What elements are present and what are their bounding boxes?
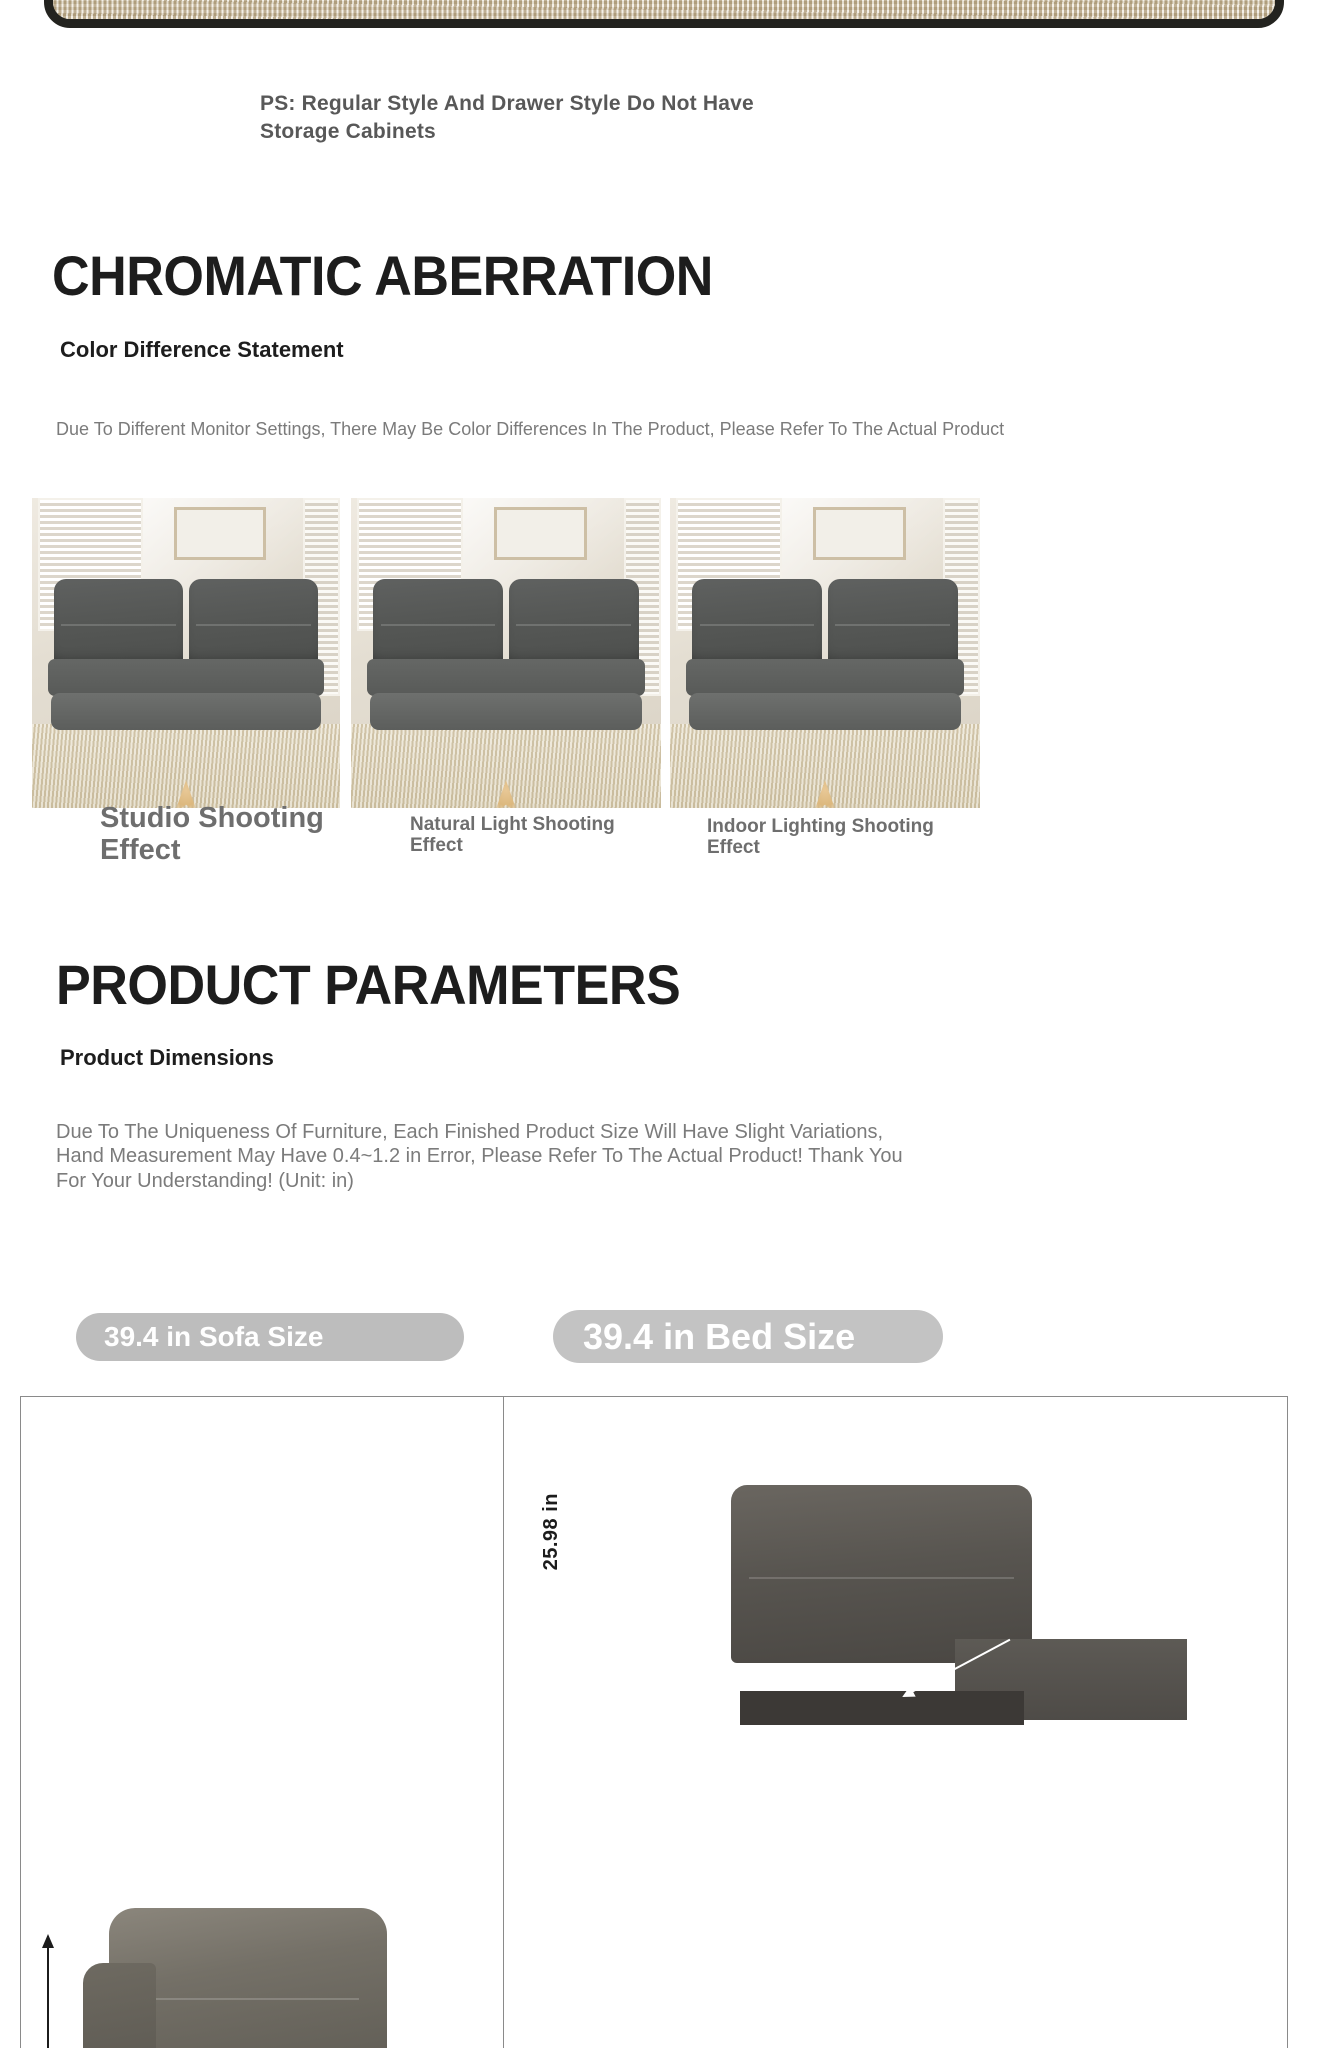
product-detail-page: PS: Regular Style And Drawer Style Do No… (0, 0, 1322, 2048)
sofa-base (51, 693, 321, 730)
sofa-size-label: 39.4 in Sofa Size (104, 1321, 323, 1353)
measurement-disclaimer: Due To The Uniqueness Of Furniture, Each… (56, 1120, 936, 1193)
color-difference-subtitle: Color Difference Statement (60, 337, 344, 363)
sofa-bed (54, 579, 319, 734)
cushion-left (373, 579, 504, 666)
cushion-left (54, 579, 184, 666)
wall-art-frame (174, 507, 266, 560)
chromatic-aberration-title: CHROMATIC ABERRATION (52, 243, 713, 308)
bed-side-illustration (714, 1485, 1144, 1725)
bed-size-label: 39.4 in Bed Size (583, 1316, 855, 1358)
product-photo-indoor-lighting (670, 498, 980, 808)
cushion-right (189, 579, 319, 666)
sofa-seat (686, 659, 963, 696)
sofa-armrest (83, 1963, 156, 2048)
sofa-bed (373, 579, 640, 734)
wall-art-frame (494, 507, 587, 560)
product-parameters-title: PRODUCT PARAMETERS (56, 952, 680, 1017)
sofa-height-arrow-icon (47, 1936, 49, 2048)
product-photo-natural-light (351, 498, 661, 808)
sofa-base (370, 693, 642, 730)
bed-backrest (731, 1485, 1032, 1663)
sofa-dimension-diagram (21, 1397, 504, 2048)
cushion-right (509, 579, 640, 666)
rug-texture (53, 0, 1275, 19)
photo-caption-indoor-lighting: Indoor Lighting Shooting Effect (707, 817, 937, 859)
monitor-difference-disclaimer: Due To Different Monitor Settings, There… (56, 420, 1296, 438)
comparison-photo-row (0, 498, 1322, 808)
sofa-bed (692, 579, 959, 734)
sofa-base (689, 693, 961, 730)
photo-caption-studio: Studio Shooting Effect (100, 803, 360, 867)
bed-base (740, 1691, 1024, 1725)
sofa-seat (48, 659, 323, 696)
ps-note: PS: Regular Style And Drawer Style Do No… (260, 90, 760, 147)
hero-image-crop (44, 0, 1284, 28)
sofa-side-illustration (83, 1908, 413, 2048)
sofa-size-badge: 39.4 in Sofa Size (76, 1313, 464, 1361)
dimension-diagram-row: 25.98 in (20, 1396, 1288, 2048)
bed-dimension-diagram: 25.98 in (504, 1397, 1287, 2048)
photo-caption-natural-light: Natural Light Shooting Effect (410, 815, 640, 857)
product-dimensions-subtitle: Product Dimensions (60, 1045, 274, 1071)
cushion-right (828, 579, 959, 666)
product-photo-studio (32, 498, 340, 808)
sofa-seat (367, 659, 644, 696)
cushion-left (692, 579, 823, 666)
bed-size-badge: 39.4 in Bed Size (553, 1310, 943, 1363)
bed-height-label: 25.98 in (540, 1493, 563, 1570)
wall-art-frame (813, 507, 906, 560)
